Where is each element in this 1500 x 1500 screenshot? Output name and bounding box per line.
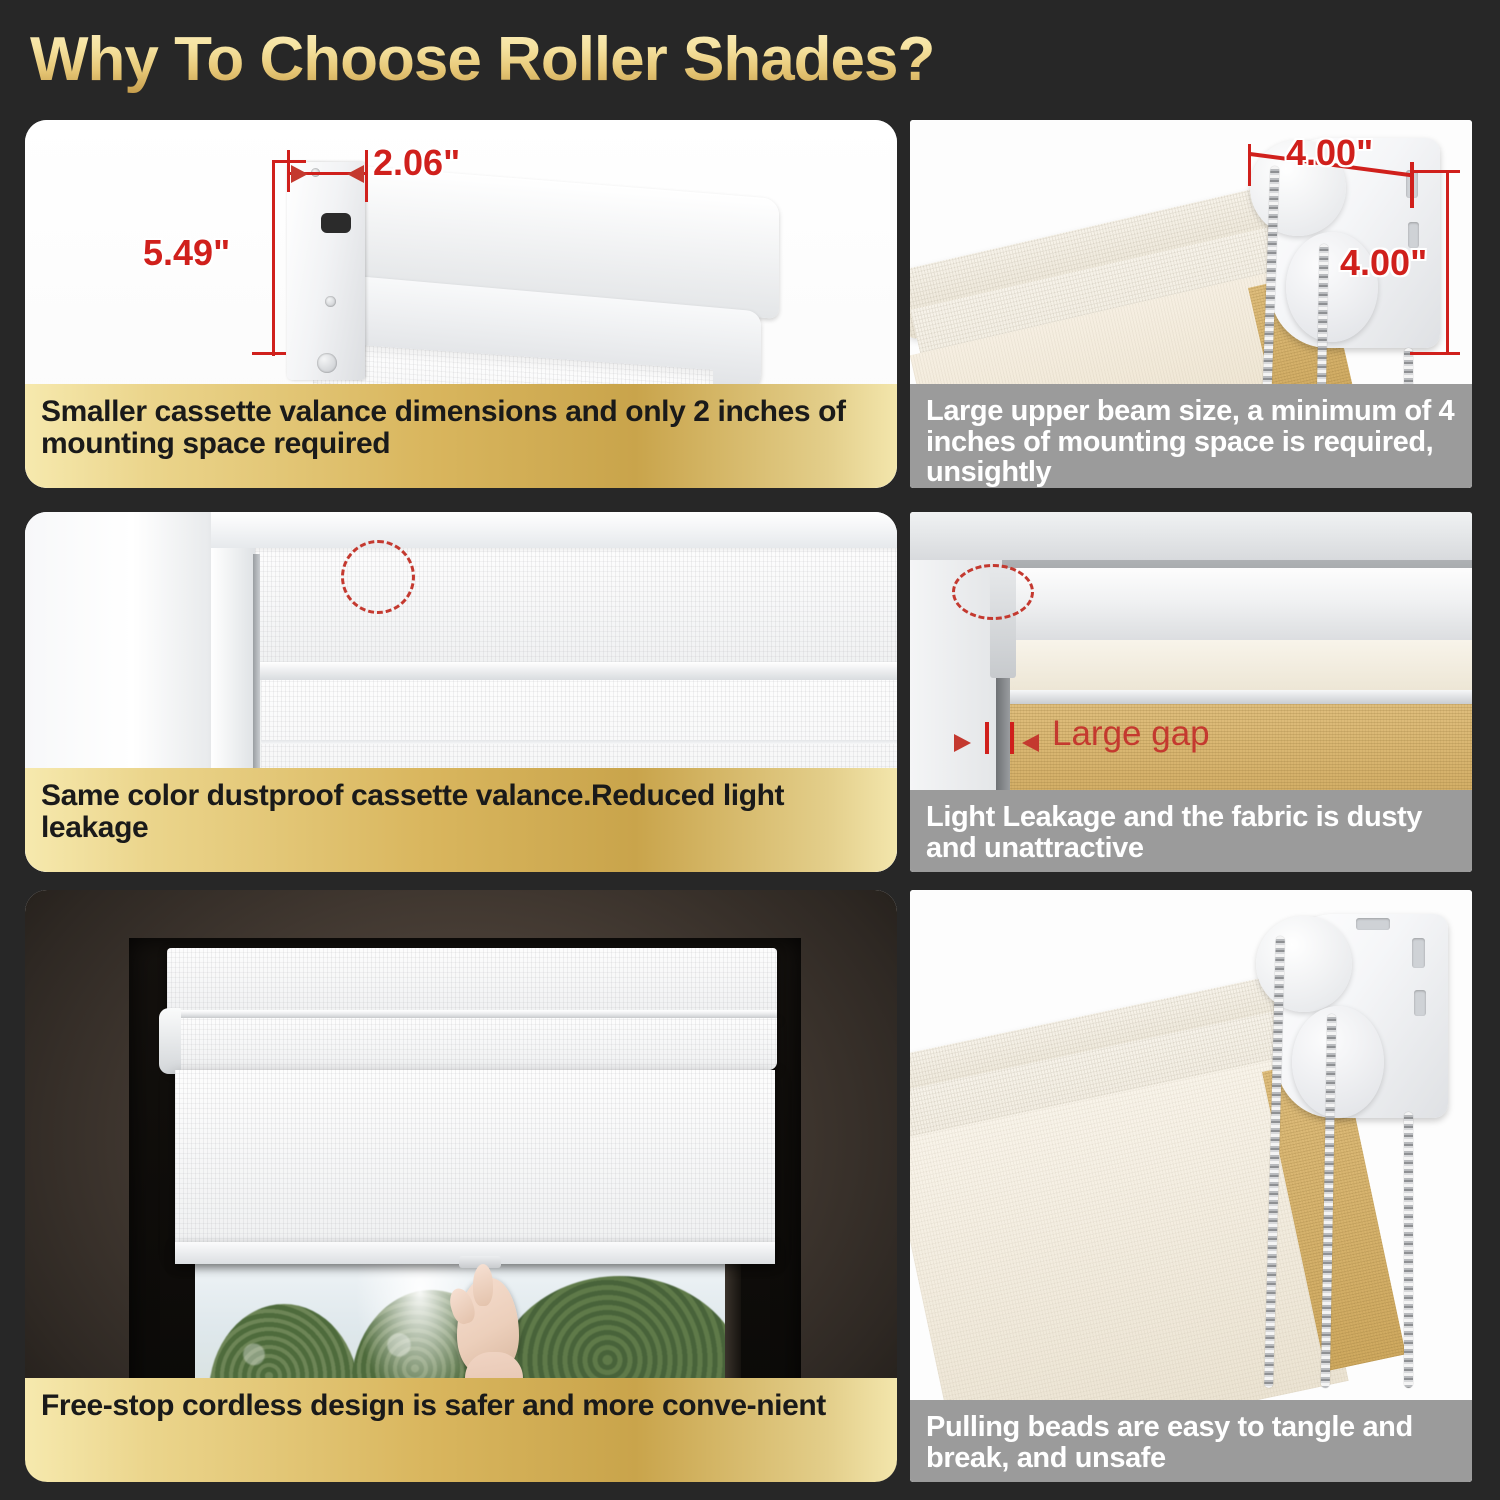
beam-height-rule (1446, 170, 1449, 354)
large-gap-tick-a (985, 722, 989, 754)
panel-bad-beads[interactable]: Pulling beads are easy to tangle and bre… (910, 890, 1472, 1482)
height-dim-rule (272, 160, 275, 356)
valance-screw-bottom (317, 353, 337, 373)
highlight-circle-large-gap (952, 564, 1034, 620)
panel-caption-bad-leakage: Light Leakage and the fabric is dusty an… (910, 790, 1472, 872)
width-dim-arrow-right (347, 165, 364, 183)
highlight-circle-small-gap (341, 540, 415, 614)
beam-width-tick-right (1410, 162, 1414, 208)
cordless-cassette-head (167, 948, 777, 1018)
panel-caption-bad-beads: Pulling beads are easy to tangle and bre… (910, 1400, 1472, 1482)
height-dim-tick-top (272, 160, 306, 163)
large-gap-tick-b (1010, 722, 1014, 754)
panel-bad-leakage[interactable]: Large gap Light Leakage and the fabric i… (910, 512, 1472, 872)
width-dim-tick-right (365, 150, 368, 202)
panel-caption-good-cordless: Free-stop cordless design is safer and m… (25, 1378, 897, 1482)
height-dim-tick-bottom (252, 352, 286, 355)
page-title: Why To Choose Roller Shades? (30, 20, 1230, 100)
shade-fabric-seam (261, 740, 897, 744)
product-photo-pulling-beads (910, 890, 1472, 1482)
bottom-rail (998, 690, 1472, 704)
beads-bracket-notch (1356, 918, 1390, 930)
cream-fabric-band (998, 640, 1472, 694)
panel-good-cordless[interactable]: Free-stop cordless design is safer and m… (25, 890, 897, 1482)
beam-height-tick-bottom (1410, 352, 1460, 355)
cassette-head-lower (167, 1018, 777, 1070)
upper-gray-band (910, 512, 1472, 560)
beads-bracket-hole-top (1412, 938, 1425, 968)
panel-bad-beam[interactable]: 4.00" 4.00" Large upper beam size, a min… (910, 120, 1472, 488)
large-gap-arrow-left (954, 734, 971, 752)
valance-bottom-lip (255, 662, 897, 680)
beam-height-tick-top (1412, 170, 1460, 173)
window-frame-top (211, 512, 897, 548)
beam-width-tick-left (1248, 144, 1251, 186)
panel-caption-good-dustproof: Same color dustproof cassette valance.Re… (25, 768, 897, 872)
cassette-head-endcap (159, 1008, 181, 1074)
valance-screw-mid (325, 296, 336, 307)
large-gap-arrow-right (1022, 734, 1039, 752)
panel-good-dustproof[interactable]: smaller gap Same color dustproof cassett… (25, 512, 897, 872)
cordless-shade-fabric (175, 1070, 775, 1254)
valance-slot (321, 213, 351, 233)
beads-chain-right (1404, 1112, 1413, 1388)
valance-end-cap (287, 162, 365, 380)
large-gap-label: Large gap (1052, 714, 1210, 754)
width-dim-arrow-left (291, 165, 308, 183)
beam-height-label: 4.00" (1340, 242, 1427, 284)
width-dimension-label: 2.06" (373, 142, 460, 184)
beam-width-label: 4.00" (1286, 132, 1373, 174)
beads-bracket-hole-mid (1414, 990, 1426, 1016)
finger-index (473, 1264, 493, 1306)
panel-good-cassette[interactable]: 2.06" 5.49" Smaller cassette valance dim… (25, 120, 897, 488)
beads-disc-lower (1292, 1006, 1384, 1118)
height-dimension-label: 5.49" (143, 232, 230, 274)
panel-caption-good-cassette: Smaller cassette valance dimensions and … (25, 384, 897, 488)
panel-caption-bad-beam: Large upper beam size, a minimum of 4 in… (910, 384, 1472, 488)
width-dim-tick-left (287, 150, 290, 192)
beads-disc-upper (1256, 916, 1352, 1012)
